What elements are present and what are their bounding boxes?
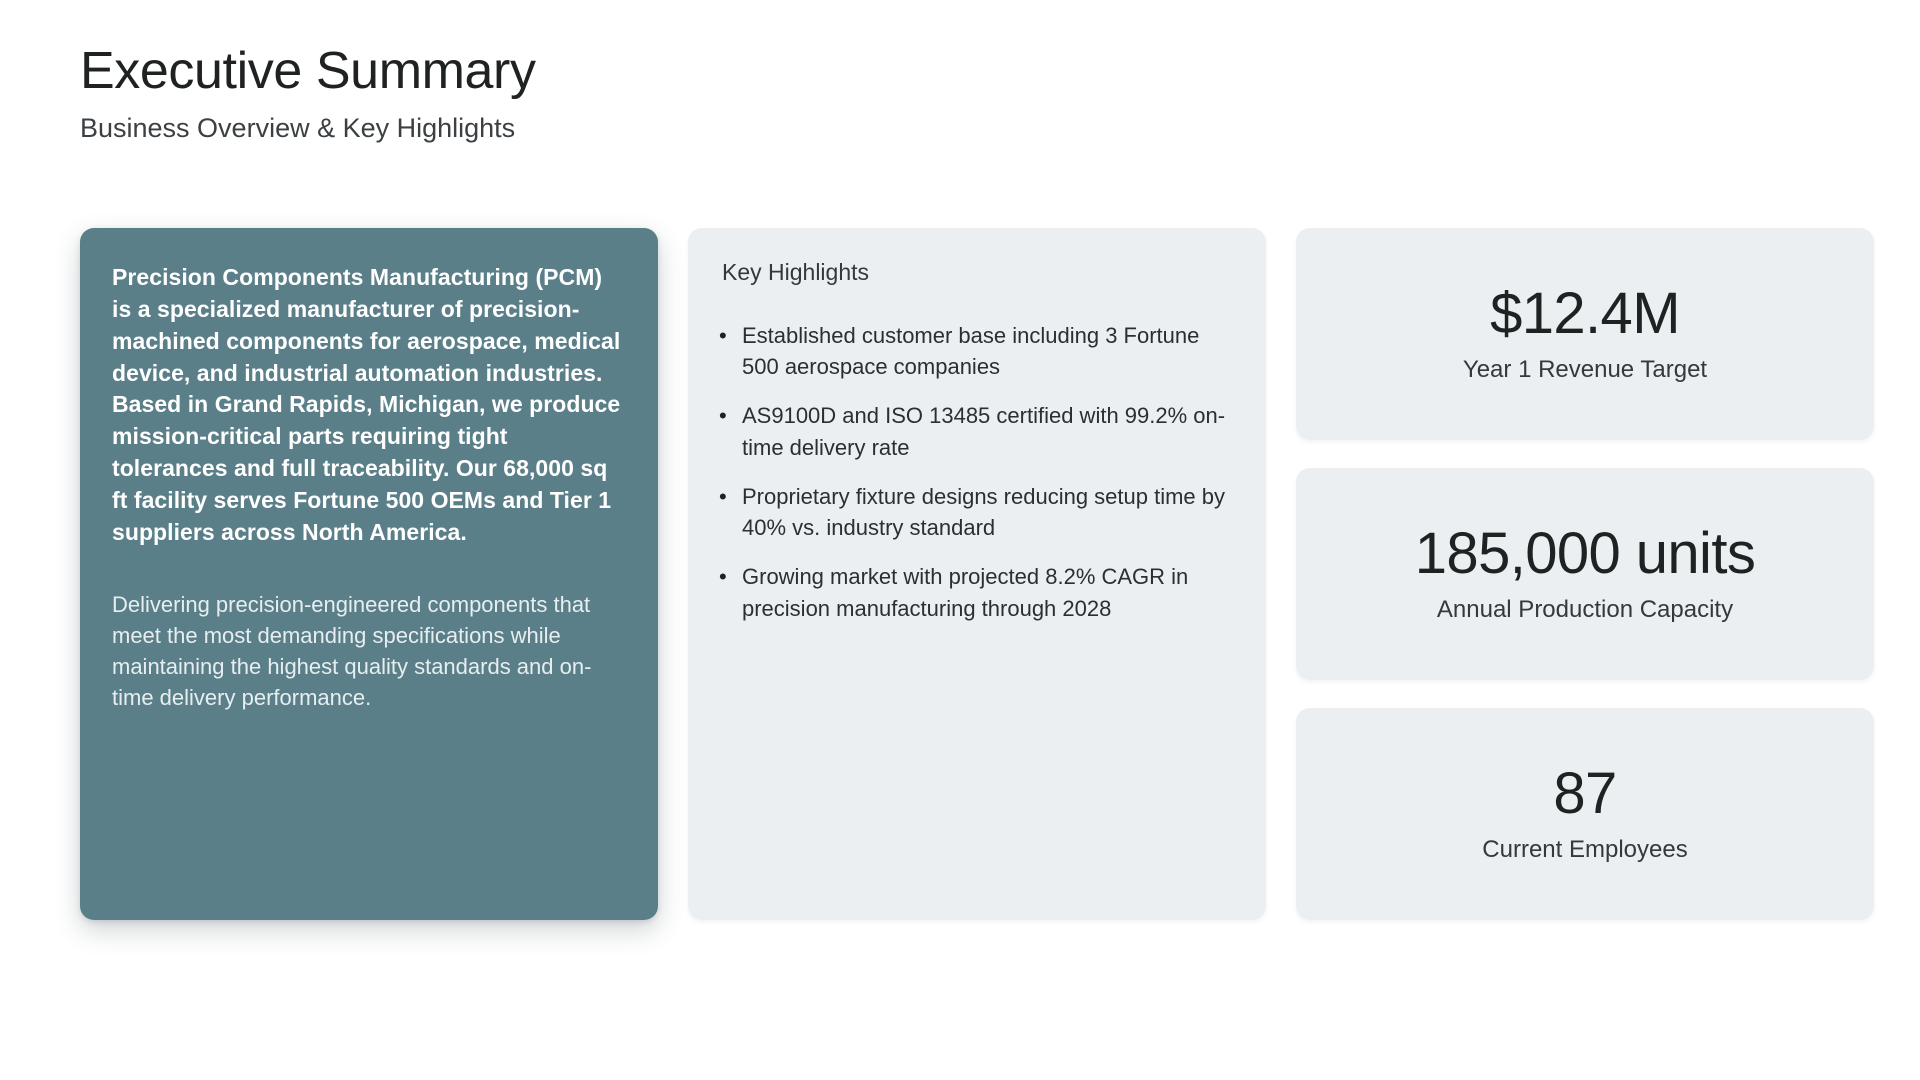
company-overview-card: Precision Components Manufacturing (PCM)… [80, 228, 658, 920]
page-title: Executive Summary [80, 42, 536, 100]
list-item-text: Proprietary fixture designs reducing set… [742, 481, 1232, 543]
list-item-text: Established customer base including 3 Fo… [742, 320, 1232, 382]
list-item: • Proprietary fixture designs reducing s… [714, 481, 1232, 543]
list-item-text: Growing market with projected 8.2% CAGR … [742, 561, 1232, 623]
page-subtitle: Business Overview & Key Highlights [80, 112, 536, 144]
slide-canvas: Executive Summary Business Overview & Ke… [0, 0, 1920, 1080]
stat-value: 185,000 units [1415, 523, 1755, 586]
stat-label: Current Employees [1482, 835, 1687, 865]
stat-label: Annual Production Capacity [1437, 595, 1733, 625]
stat-label: Year 1 Revenue Target [1463, 355, 1707, 385]
key-highlights-title: Key Highlights [722, 258, 1232, 288]
bullet-point-icon: • [714, 320, 742, 351]
highlights-column: Key Highlights • Established customer ba… [688, 228, 1266, 920]
key-highlights-card: Key Highlights • Established customer ba… [688, 228, 1266, 920]
overview-body-paragraph: Delivering precision-engineered componen… [112, 589, 626, 714]
list-item: • Established customer base including 3 … [714, 320, 1232, 382]
list-item: • Growing market with projected 8.2% CAG… [714, 561, 1232, 623]
stat-card-employees: 87 Current Employees [1296, 708, 1874, 920]
list-item-text: AS9100D and ISO 13485 certified with 99.… [742, 400, 1232, 462]
stat-card-revenue: $12.4M Year 1 Revenue Target [1296, 228, 1874, 440]
bullet-point-icon: • [714, 481, 742, 512]
stat-value: $12.4M [1490, 283, 1680, 346]
overview-column: Precision Components Manufacturing (PCM)… [80, 228, 658, 920]
bullet-point-icon: • [714, 400, 742, 431]
stat-card-capacity: 185,000 units Annual Production Capacity [1296, 468, 1874, 680]
slide-header: Executive Summary Business Overview & Ke… [80, 42, 536, 145]
stat-value: 87 [1553, 763, 1616, 826]
list-item: • AS9100D and ISO 13485 certified with 9… [714, 400, 1232, 462]
bullet-point-icon: • [714, 561, 742, 592]
overview-lead-paragraph: Precision Components Manufacturing (PCM)… [112, 262, 626, 549]
key-highlights-list: • Established customer base including 3 … [714, 302, 1232, 624]
content-columns: Precision Components Manufacturing (PCM)… [80, 228, 1852, 920]
metrics-column: $12.4M Year 1 Revenue Target 185,000 uni… [1296, 228, 1874, 920]
